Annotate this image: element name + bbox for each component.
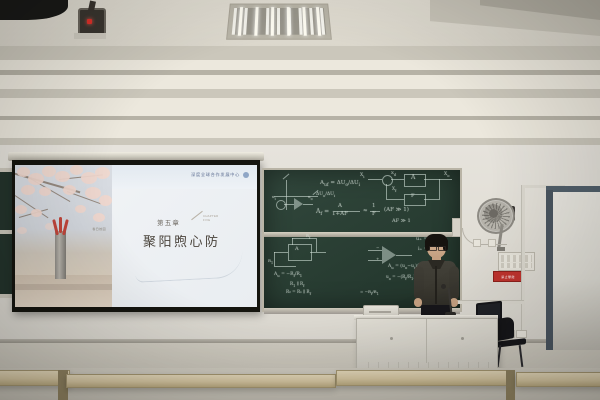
lectern-console[interactable] [356,318,498,372]
warning-sign-text: 禁止攀爬 [501,275,515,279]
ceiling-beam [0,89,600,98]
glasses-icon [438,246,446,251]
glasses-icon [429,246,437,251]
slide-decorative-swoosh [134,250,243,283]
student-desk [516,372,600,387]
lectern-door-seam [426,319,427,363]
slide-photo-monument [55,231,66,279]
ceiling-beam-highlight [0,60,600,70]
ceiling-beam [0,46,600,60]
sensor-stalk [88,0,96,11]
electrical-panel[interactable] [498,252,535,271]
light-grille [232,8,327,35]
slide-title: 聚阳煦心防 [143,231,221,250]
student-desk-side [506,370,515,400]
lectern-lock[interactable] [461,337,464,340]
ceiling-beam-highlight [0,98,600,116]
slide-photo-path [15,284,112,290]
slide-logo-icon [243,172,249,178]
projector-slot [369,311,391,313]
person-shirt-placket [435,266,437,304]
light-switch[interactable] [473,239,481,247]
slide-divider [191,211,203,220]
slide-photo: 春日校园 [15,165,112,307]
ceiling-beam-highlight [0,75,600,89]
projected-slide: 春日校园 深度全球合作发展中心 第五章 CHAPTERFIVE 聚阳煦心防 [15,165,257,307]
wall-plate [452,218,461,237]
wall-fan [477,198,515,232]
slide-chapter-label: 第五章 [157,217,180,227]
fan-wall-mount [497,247,505,251]
fan-hub [489,209,498,218]
ceiling-corner-shadow [0,0,68,20]
warning-sign: 禁止攀爬 [493,271,523,282]
sensor-led-indicator [87,19,92,24]
ceiling [0,0,600,150]
panel-breaker-row [501,255,532,262]
projection-screen[interactable]: 春日校园 深度全球合作发展中心 第五章 CHAPTERFIVE 聚阳煦心防 [12,160,260,312]
person-arm-left [414,266,424,300]
classroom-scene: 春日校园 深度全球合作发展中心 第五章 CHAPTERFIVE 聚阳煦心防 Au… [0,0,600,400]
slide-photo-ground [15,275,112,307]
slide-header-text: 深度全球合作发展中心 [191,172,240,178]
slide-header: 深度全球合作发展中心 [191,172,249,178]
door-jamb [546,190,553,350]
conduit-vertical [521,185,525,330]
ceiling-light-fixture [226,4,332,40]
light-switch[interactable] [488,239,496,247]
slide-chapter-en: CHAPTERFIVE [203,214,218,222]
student-desk [66,374,336,388]
ceiling-beam-highlight [0,120,600,138]
doorway-opening[interactable] [553,192,600,350]
slide-photo-caption: 春日校园 [92,227,106,231]
panel-breaker-row [501,263,532,268]
microphone-head-icon [441,284,446,289]
lectern-lock[interactable] [390,337,393,340]
student-desk [336,370,514,386]
sensor-mount [74,33,106,39]
person-arm-right [449,266,459,300]
